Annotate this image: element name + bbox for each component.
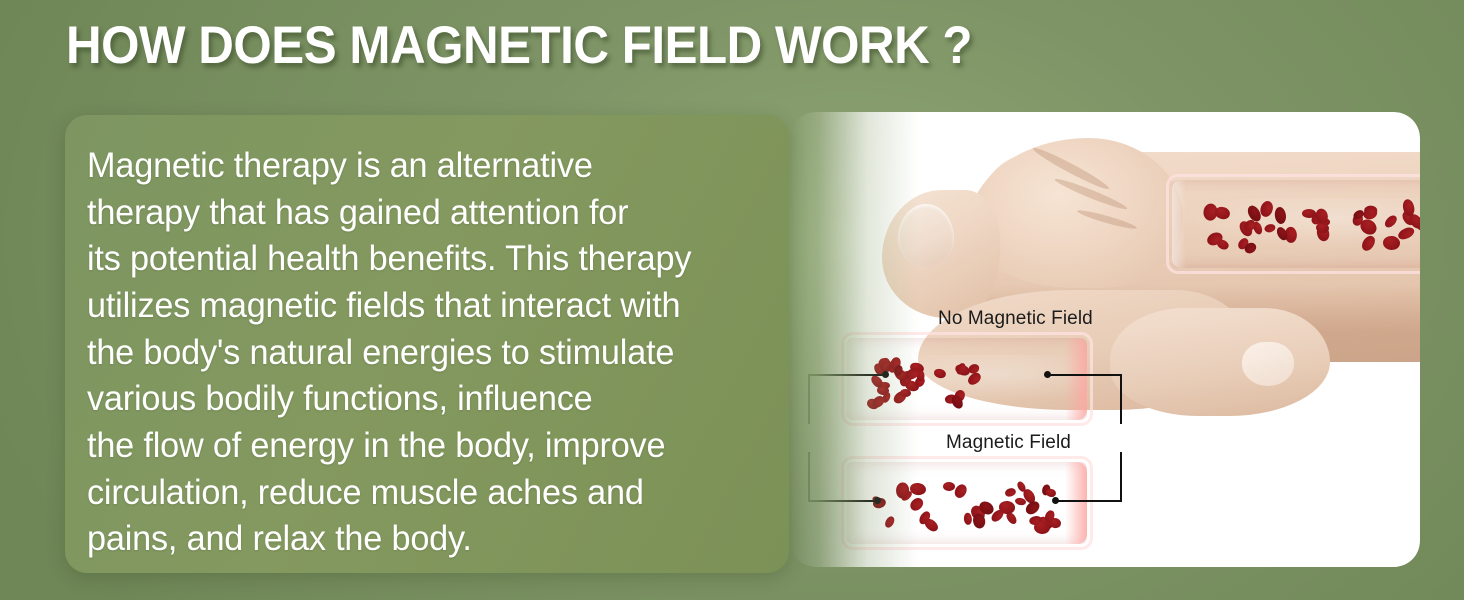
banner-root: HOW DOES MAGNETIC FIELD WORK ? Magnetic … (0, 0, 1464, 600)
fingernail (1242, 342, 1294, 386)
vessel-left-cap (847, 462, 861, 544)
connector-line (1048, 374, 1122, 376)
arm-blood-vessel (1172, 180, 1420, 268)
connector-line (1056, 500, 1122, 502)
hand-knuckles (968, 138, 1183, 288)
connector-line (808, 374, 810, 424)
vessel-right-cap (1065, 462, 1087, 544)
page-title: HOW DOES MAGNETIC FIELD WORK ? (66, 18, 972, 74)
vessel-no-magnetic-field (847, 338, 1087, 420)
vessel-magnetic-field (847, 462, 1087, 544)
connector-dot (1052, 497, 1059, 504)
connector-dot (1044, 371, 1051, 378)
vessel-right-cap (1065, 338, 1087, 420)
connector-line (1120, 452, 1122, 502)
red-blood-cell (896, 482, 909, 498)
connector-dot (882, 371, 889, 378)
description-text: Magnetic therapy is an alternative thera… (87, 142, 737, 562)
description-card: Magnetic therapy is an alternative thera… (65, 115, 789, 573)
diagram-label-no-field: No Magnetic Field (938, 308, 1093, 330)
connector-dot (874, 497, 881, 504)
thumbnail (898, 204, 954, 266)
connector-line (1120, 374, 1122, 424)
red-blood-cell (900, 389, 911, 397)
vessel-left-cap (847, 338, 861, 420)
vessel-wall (1172, 180, 1420, 268)
red-blood-cell (1364, 206, 1377, 216)
vessel-left-cap (1172, 180, 1186, 268)
illustration-panel: No Magnetic Field Magnetic Field (790, 112, 1420, 567)
middle-finger (1110, 308, 1330, 416)
connector-line (808, 452, 810, 502)
connector-line (808, 374, 886, 376)
diagram-label-field: Magnetic Field (946, 432, 1071, 454)
connector-line (808, 500, 878, 502)
illustration-canvas: No Magnetic Field Magnetic Field (790, 112, 1420, 567)
